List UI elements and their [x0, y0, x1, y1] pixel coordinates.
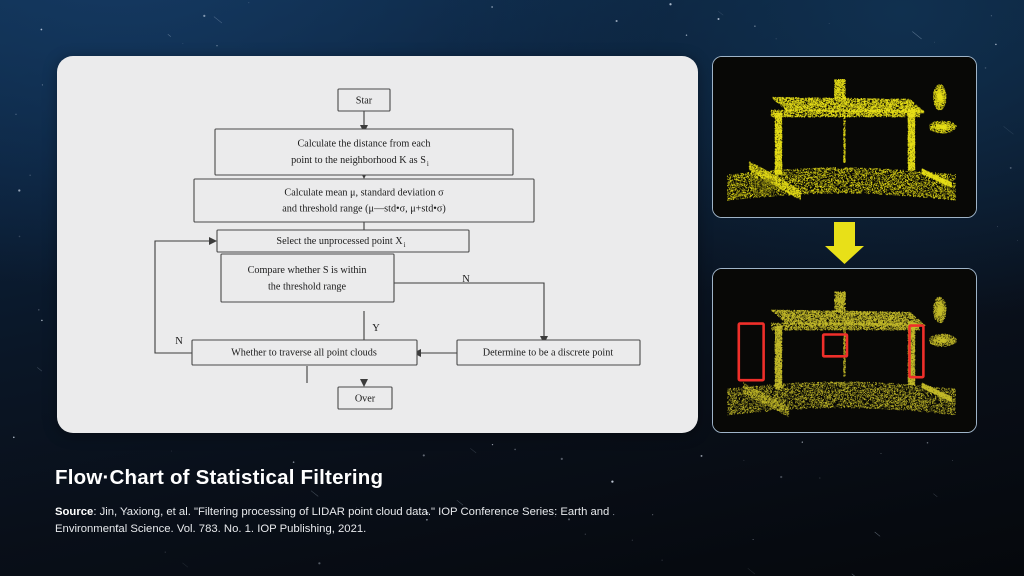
node-discrete-label: Determine to be a discrete point	[483, 347, 614, 358]
node-compare-threshold	[221, 254, 394, 302]
page-title: Flow·Chart of Statistical Filtering	[55, 466, 695, 491]
filtered-point-cloud-image	[713, 269, 976, 433]
source-citation: Source: Jin, Yaxiong, et al. "Filtering …	[55, 504, 675, 538]
node-traverse-label: Whether to traverse all point clouds	[231, 347, 377, 358]
edge-label-no-left: N	[175, 336, 183, 347]
node-compare-line1: Compare whether S is within	[248, 265, 367, 276]
caption-block: Flow·Chart of Statistical Filtering Sour…	[55, 466, 695, 538]
flowchart-diagram: Star Calculate the distance from each po…	[57, 56, 698, 433]
edge-label-yes: Y	[372, 323, 380, 334]
node-distance-line1: Calculate the distance from each	[298, 138, 431, 149]
node-over-label: Over	[355, 393, 376, 404]
slide-canvas: Star Calculate the distance from each po…	[0, 0, 1024, 576]
source-label: Source	[55, 506, 93, 518]
node-calculate-distance	[215, 129, 513, 175]
process-arrow-container	[712, 220, 977, 266]
node-stats-line1: Calculate mean μ, standard deviation σ	[284, 187, 444, 198]
down-arrow-icon	[712, 220, 977, 266]
edge-label-no-right: N	[462, 274, 470, 285]
node-stats-line2: and threshold range (μ—std•σ, μ+std•σ)	[282, 203, 446, 214]
flowchart-card: Star Calculate the distance from each po…	[57, 56, 698, 433]
node-compare-line2: the threshold range	[268, 281, 347, 292]
filtered-point-cloud-panel	[712, 268, 977, 433]
raw-point-cloud-image	[713, 57, 976, 218]
node-select-label: Select the unprocessed point Xi	[276, 236, 405, 248]
raw-point-cloud-panel	[712, 56, 977, 218]
node-distance-line2: point to the neighborhood K as Si	[291, 155, 429, 167]
node-calculate-stats	[194, 179, 534, 222]
node-start-label: Star	[356, 95, 373, 106]
source-text: : Jin, Yaxiong, et al. "Filtering proces…	[55, 506, 609, 535]
